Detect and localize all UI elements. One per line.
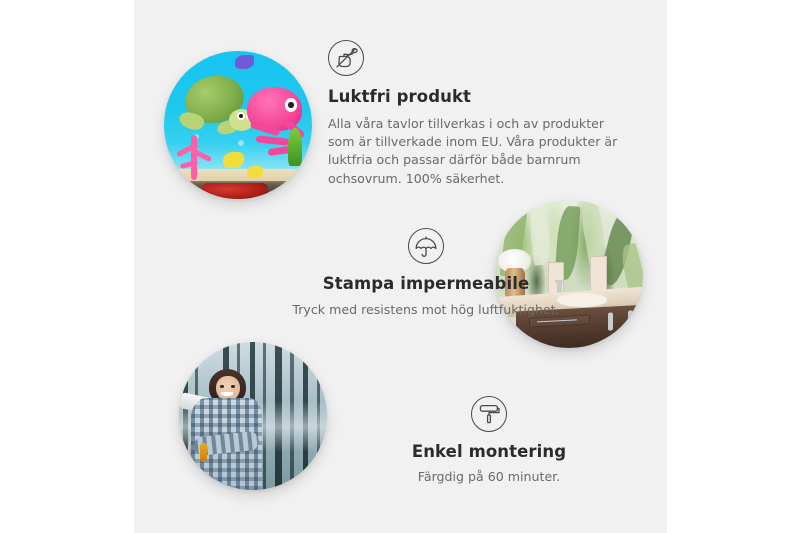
red-sofa <box>202 183 267 199</box>
cabinet-door-handle <box>608 312 613 331</box>
seaweed <box>288 128 301 166</box>
roller-handle-grip <box>200 443 207 462</box>
product-feature-panel: Luktfri produkt Alla våra tavlor tillver… <box>134 0 667 533</box>
photo-woman-paint-roller-forest-wallpaper <box>179 342 327 490</box>
woman-eye <box>231 385 235 388</box>
feature-title: Stampa impermeabile <box>254 274 598 295</box>
coral-icon <box>173 135 217 179</box>
feature-description: Färgdig på 60 minuter. <box>384 468 594 486</box>
feature-title: Enkel montering <box>384 442 594 463</box>
no-fragrance-icon <box>328 40 364 76</box>
feature-block-waterproof-print: Stampa impermeabile Tryck med resistens … <box>254 228 598 319</box>
blue-fish-icon <box>235 55 254 68</box>
feature-description: Tryck med resistens mot hög luftfuktighe… <box>254 301 598 319</box>
feature-title: Luktfri produkt <box>328 87 633 108</box>
umbrella-icon <box>408 228 444 264</box>
woman-eye <box>220 385 224 388</box>
feature-block-odourless: Luktfri produkt Alla våra tavlor tillver… <box>328 40 633 188</box>
cabinet-door-handle <box>628 310 633 329</box>
yellow-fish-icon <box>223 152 244 168</box>
paint-roller-icon <box>471 396 507 432</box>
bubble-icon <box>238 140 244 146</box>
woman-smile <box>221 392 233 396</box>
screenshot-canvas: Luktfri produkt Alla våra tavlor tillver… <box>0 0 800 533</box>
photo-underwater-cartoon-wallpaper <box>164 51 312 199</box>
turtle-eye <box>237 112 245 120</box>
feature-block-easy-installation: Enkel montering Färgdig på 60 minuter. <box>384 396 594 486</box>
feature-description: Alla våra tavlor tillverkas i och av pro… <box>328 115 628 189</box>
octopus-eye <box>285 98 297 111</box>
